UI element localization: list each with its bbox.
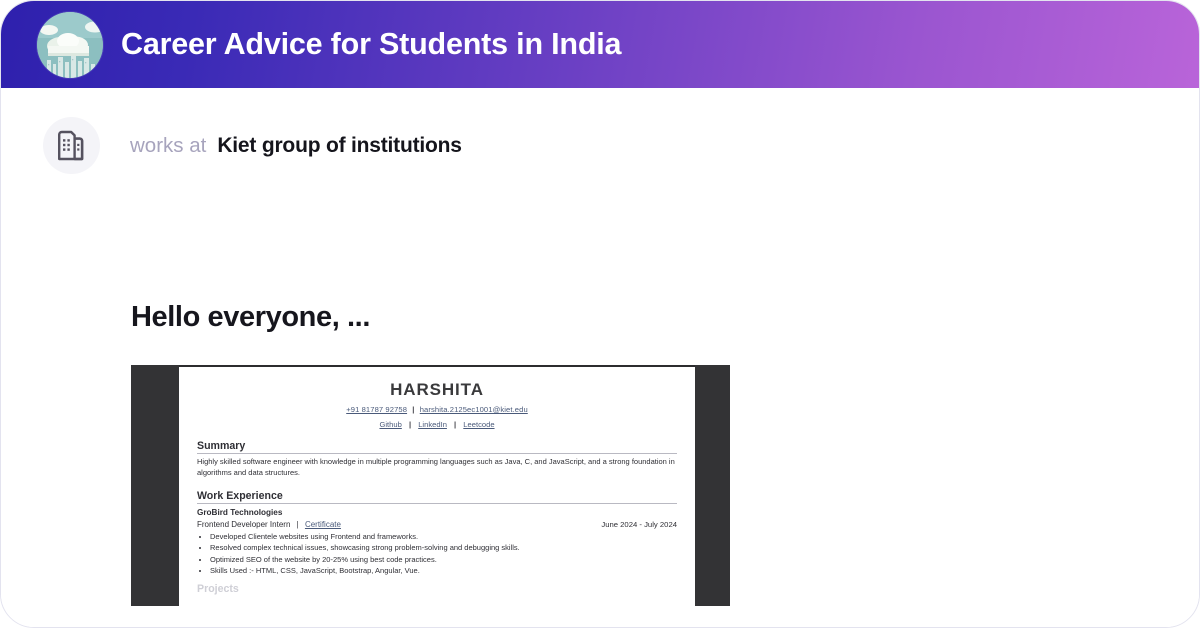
resume-section-heading-summary: Summary [197,440,677,454]
resume-phone[interactable]: +91 81787 92758 [346,405,407,414]
list-item: Developed Clientele websites using Front… [210,531,677,542]
resume-candidate-name: HARSHITA [197,380,677,400]
post-card: Career Advice for Students in India [0,0,1200,628]
contact-separator: | [409,405,417,414]
author-meta-row: works at Kiet group of institutions [43,117,462,174]
post-body: works at Kiet group of institutions Hell… [1,88,1199,628]
office-building-icon [43,117,100,174]
resume-role-row: Frontend Developer Intern | Certificate … [197,520,677,529]
resume-cut-off-heading: Projects [197,583,677,595]
role-separator: | [293,520,303,529]
list-item: Skills Used :- HTML, CSS, JavaScript, Bo… [210,565,677,576]
resume-email[interactable]: harshita.2125ec1001@kiet.edu [420,405,528,414]
resume-link-github[interactable]: Github [379,420,401,429]
list-item: Optimized SEO of the website by 20-25% u… [210,554,677,565]
link-separator: | [404,420,416,429]
resume-company-name: GroBird Technologies [197,508,677,517]
resume-role-line: Frontend Developer Intern | Certificate [197,520,341,529]
bowl-clouds-city-avatar-icon[interactable] [37,12,103,78]
resume-certificate-link[interactable]: Certificate [305,520,341,529]
resume-role-dates: June 2024 - July 2024 [601,520,677,529]
resume-role-title: Frontend Developer Intern [197,520,290,529]
list-item: Resolved complex technical issues, showc… [210,542,677,553]
link-separator: | [449,420,461,429]
resume-link-linkedin[interactable]: LinkedIn [418,420,447,429]
works-at-label: works at [130,134,206,158]
works-at-text: works at Kiet group of institutions [130,134,462,158]
post-image-attachment[interactable]: HARSHITA +91 81787 92758 | harshita.2125… [131,365,730,606]
bowl-title: Career Advice for Students in India [121,27,621,62]
resume-contact-line: +91 81787 92758 | harshita.2125ec1001@ki… [197,405,677,414]
resume-links-row: Github | LinkedIn | Leetcode [197,420,677,429]
resume-document: HARSHITA +91 81787 92758 | harshita.2125… [179,365,695,606]
organization-name[interactable]: Kiet group of institutions [217,134,461,158]
resume-section-heading-work-experience: Work Experience [197,490,677,504]
resume-bullet-list: Developed Clientele websites using Front… [210,531,677,577]
post-title[interactable]: Hello everyone, ... [131,301,370,334]
bowl-header: Career Advice for Students in India [1,1,1199,88]
resume-summary-text: Highly skilled software engineer with kn… [197,457,677,479]
resume-link-leetcode[interactable]: Leetcode [463,420,494,429]
